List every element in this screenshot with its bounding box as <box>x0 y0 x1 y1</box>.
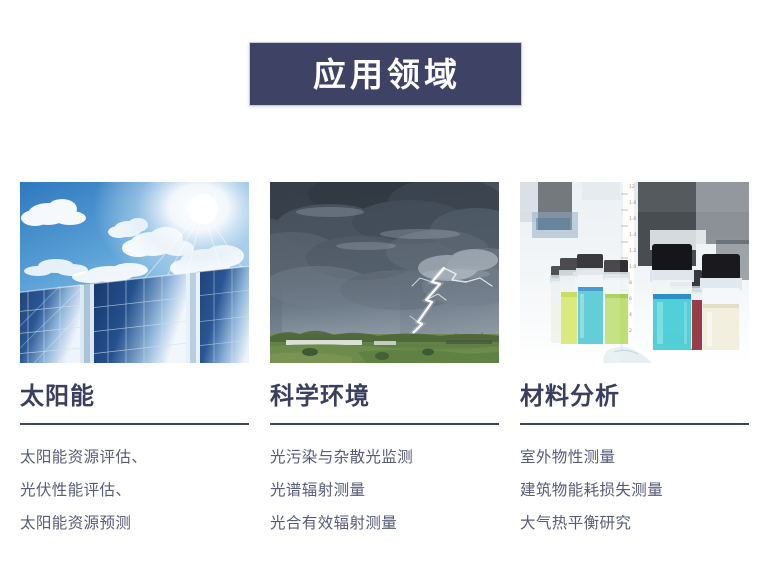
column-items-science-environment: 光污染与杂散光监测 光谱辐射测量 光合有效辐射测量 <box>270 441 499 540</box>
column-title-science-environment: 科学环境 <box>270 384 499 413</box>
svg-text:6: 6 <box>629 296 632 302</box>
page-title: 应用领域 <box>309 58 461 91</box>
list-item: 建筑物能耗损失测量 <box>520 474 749 507</box>
svg-text:2: 2 <box>629 328 632 334</box>
laboratory-vials-image: 12 1.8 1.6 1.4 1.2 1.0 8 6 4 2 <box>520 182 749 363</box>
svg-text:8: 8 <box>629 280 632 286</box>
header-banner-area: 应用领域 <box>0 0 770 106</box>
list-item: 光合有效辐射测量 <box>270 507 499 540</box>
list-item: 太阳能资源预测 <box>20 507 249 540</box>
list-item: 光伏性能评估、 <box>20 474 249 507</box>
storm-lightning-image <box>270 182 499 363</box>
svg-text:4: 4 <box>629 312 632 318</box>
column-items-material-analysis: 室外物性测量 建筑物能耗损失测量 大气热平衡研究 <box>520 441 749 540</box>
svg-text:1.0: 1.0 <box>629 264 636 270</box>
column-science-environment: 科学环境 光污染与杂散光监测 光谱辐射测量 光合有效辐射测量 <box>270 182 499 556</box>
solar-panels-image <box>20 182 249 363</box>
column-items-solar-energy: 太阳能资源评估、 光伏性能评估、 太阳能资源预测 <box>20 441 249 540</box>
column-title-solar-energy: 太阳能 <box>20 384 249 413</box>
header-banner: 应用领域 <box>249 42 522 106</box>
list-item: 室外物性测量 <box>520 441 749 474</box>
list-item: 大气热平衡研究 <box>520 507 749 540</box>
svg-text:1.6: 1.6 <box>629 216 636 222</box>
column-material-analysis: 12 1.8 1.6 1.4 1.2 1.0 8 6 4 2 <box>520 182 749 556</box>
list-item: 太阳能资源评估、 <box>20 441 249 474</box>
list-item: 光污染与杂散光监测 <box>270 441 499 474</box>
column-divider <box>520 423 749 425</box>
column-divider <box>20 423 249 425</box>
application-columns: 太阳能 太阳能资源评估、 光伏性能评估、 太阳能资源预测 <box>20 182 750 556</box>
svg-text:1.4: 1.4 <box>629 232 636 238</box>
column-solar-energy: 太阳能 太阳能资源评估、 光伏性能评估、 太阳能资源预测 <box>20 182 249 556</box>
list-item: 光谱辐射测量 <box>270 474 499 507</box>
column-title-material-analysis: 材料分析 <box>520 384 749 413</box>
svg-text:1.2: 1.2 <box>629 248 636 254</box>
column-divider <box>270 423 499 425</box>
